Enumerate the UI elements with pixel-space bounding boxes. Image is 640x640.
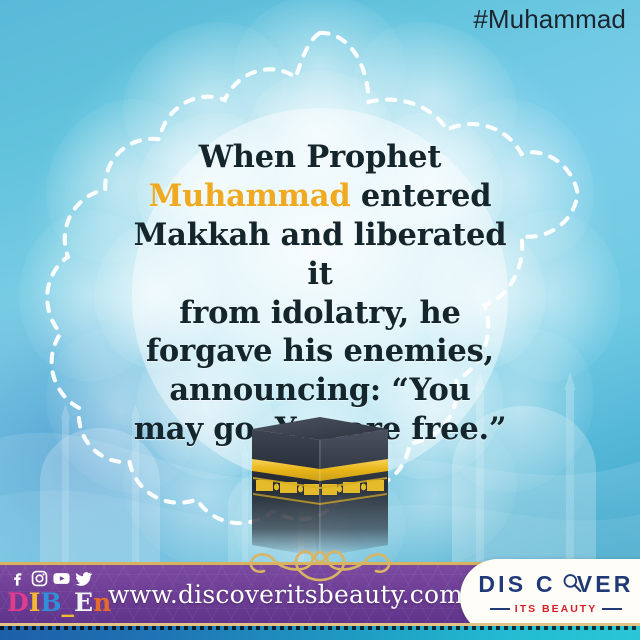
magnifying-glass-icon bbox=[562, 573, 582, 593]
hashtag-label: #Muhammad bbox=[473, 4, 626, 35]
facebook-icon[interactable] bbox=[8, 569, 27, 588]
kaaba-illustration bbox=[240, 407, 400, 562]
quote-line-4: from idolatry, he bbox=[120, 294, 520, 333]
tagline-rule-right bbox=[602, 608, 622, 610]
quote-line-6: announcing: “You bbox=[120, 371, 520, 410]
footer-banner: DIB_En www.discoveritsbeauty.com DIS CVE… bbox=[0, 562, 640, 626]
handle-letter-1: I bbox=[29, 590, 41, 615]
logo-tagline: ITS BEAUTY bbox=[476, 603, 636, 615]
instagram-icon[interactable] bbox=[30, 569, 49, 588]
handle-letter-0: D bbox=[7, 590, 29, 615]
quote-highlight-muhammad: Muhammad bbox=[149, 178, 351, 214]
logo-word-part-1: DIS C bbox=[478, 571, 555, 597]
social-handle: DIB_En bbox=[7, 590, 111, 615]
quote-line-3: Makkah and liberated it bbox=[120, 216, 520, 294]
social-icons[interactable] bbox=[8, 569, 93, 588]
quote-line-1: When Prophet bbox=[120, 138, 520, 177]
bottom-dash-pattern bbox=[0, 626, 640, 630]
handle-letter-3: _ bbox=[62, 590, 75, 615]
bottom-accent-strip bbox=[0, 623, 640, 640]
website-url[interactable]: www.discoveritsbeauty.com bbox=[108, 580, 458, 609]
quote-text: When Prophet Muhammad entered Makkah and… bbox=[120, 138, 520, 449]
quote-line-5: forgave his enemies, bbox=[120, 332, 520, 371]
logo-word-part-2: VER bbox=[577, 571, 634, 597]
poster-canvas: #Muhammad When Prophet Muhammad entered … bbox=[0, 0, 640, 640]
handle-letter-4: E bbox=[74, 590, 93, 615]
logo-wordmark: DIS CVER bbox=[476, 573, 636, 596]
tagline-rule-left bbox=[490, 608, 510, 610]
tagline-text: ITS BEAUTY bbox=[515, 603, 597, 615]
handle-letter-2: B bbox=[40, 590, 61, 615]
quote-line-2: Muhammad entered bbox=[120, 177, 520, 216]
twitter-icon[interactable] bbox=[74, 569, 93, 588]
youtube-icon[interactable] bbox=[52, 569, 71, 588]
quote-line-2-rest: entered bbox=[351, 178, 492, 214]
